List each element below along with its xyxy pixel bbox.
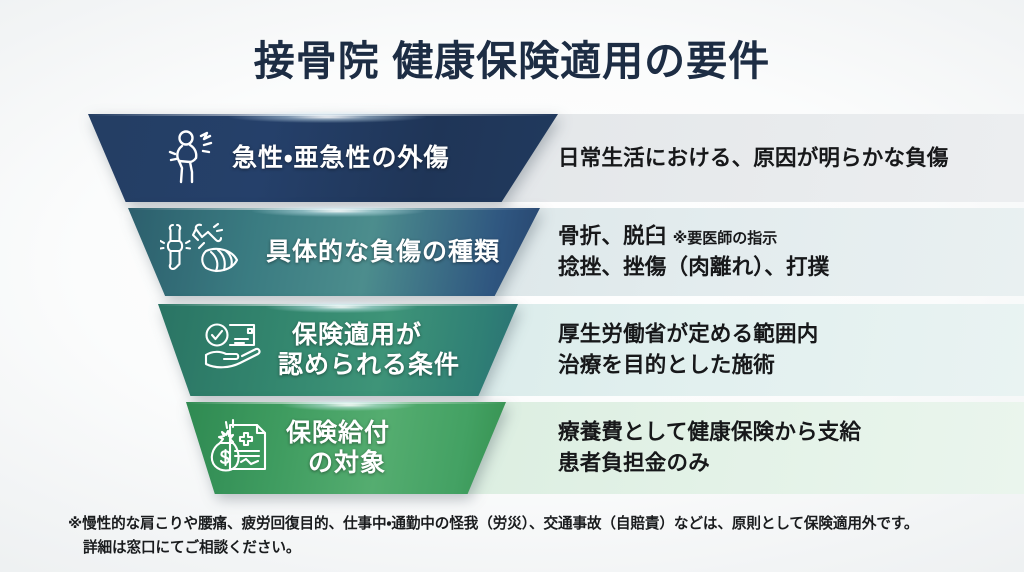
band-4-label: 保険給付 の対象: [286, 418, 390, 478]
row-2-description-text-1: 骨折、脱臼: [558, 224, 667, 248]
band-3-label-line-2: 認められる条件: [278, 350, 460, 380]
funnel-band-injury-types[interactable]: 具体的な負傷の種類: [128, 208, 540, 296]
row-2-description-line-2: 捻挫、挫傷（肉離れ）、打撲: [558, 252, 1024, 283]
band-1-content: 急性・亜急性の外傷: [88, 114, 558, 202]
page-title: 接骨院 健康保険適用の要件: [0, 27, 1024, 87]
row-3-description-panel: 厚生労働省が定める範囲内 治療を目的とした施術: [464, 304, 1024, 396]
band-4-label-line-2: の対象: [286, 448, 390, 478]
row-4-description-line-1: 療養費として健康保険から支給: [558, 417, 1024, 448]
funnel-row-1: 日常生活における、原因が明らかな負傷: [0, 114, 1024, 202]
row-3-description-line-1: 厚生労働省が定める範囲内: [558, 319, 1024, 350]
band-3-label: 保険適用が 認められる条件: [278, 320, 460, 380]
band-3-label-line-1: 保険適用が: [278, 321, 422, 349]
row-2-description-panel: 骨折、脱臼 ※要医師の指示 捻挫、挫傷（肉離れ）、打撲: [464, 208, 1024, 296]
band-2-label: 具体的な負傷の種類: [266, 237, 500, 267]
band-4-content: 保険給付 の対象: [186, 402, 506, 494]
band-2-label-line-1: 具体的な負傷の種類: [266, 238, 500, 266]
hand-holding-approved-card-icon: [202, 320, 264, 381]
band-1-label-line-1: 急性・亜急性の外傷: [232, 144, 450, 172]
row-1-description-line-1: 日常生活における、原因が明らかな負傷: [558, 143, 1024, 174]
infographic-canvas: 接骨院 健康保険適用の要件 日常生活における、原因が明らかな負傷: [0, 0, 1024, 572]
money-bag-medical-document-icon: [208, 417, 272, 480]
bone-joint-muscle-icon: [160, 221, 252, 284]
footnote-line-1: ※慢性的な肩こりや腰痛、疲労回復目的、仕事中・通勤中の怪我（労災）、交通事故（自…: [68, 513, 968, 537]
funnel-band-insurance-benefit[interactable]: 保険給付 の対象: [186, 402, 506, 494]
person-in-pain-icon: [168, 127, 218, 190]
funnel-band-acute-injury[interactable]: 急性・亜急性の外傷: [88, 114, 558, 202]
band-4-label-line-1: 保険給付: [286, 419, 390, 447]
row-2-description-line-1: 骨折、脱臼 ※要医師の指示: [558, 221, 1024, 252]
band-2-content: 具体的な負傷の種類: [128, 208, 540, 296]
row-2-description-note: ※要医師の指示: [673, 230, 778, 247]
footnote: ※慢性的な肩こりや腰痛、疲労回復目的、仕事中・通勤中の怪我（労災）、交通事故（自…: [68, 513, 968, 560]
footnote-line-2: 詳細は窓口にてご相談ください。: [68, 537, 968, 561]
funnel-row-2: 骨折、脱臼 ※要医師の指示 捻挫、挫傷（肉離れ）、打撲: [0, 208, 1024, 296]
row-4-description-line-2: 患者負担金のみ: [558, 448, 1024, 479]
funnel-row-4: 療養費として健康保険から支給 患者負担金のみ: [0, 402, 1024, 494]
funnel-row-3: 厚生労働省が定める範囲内 治療を目的とした施術: [0, 304, 1024, 396]
funnel-band-coverage-conditions[interactable]: 保険適用が 認められる条件: [158, 304, 518, 396]
band-3-content: 保険適用が 認められる条件: [158, 304, 518, 396]
row-3-description-line-2: 治療を目的とした施術: [558, 350, 1024, 381]
row-4-description-panel: 療養費として健康保険から支給 患者負担金のみ: [464, 402, 1024, 494]
band-1-label: 急性・亜急性の外傷: [232, 143, 450, 173]
